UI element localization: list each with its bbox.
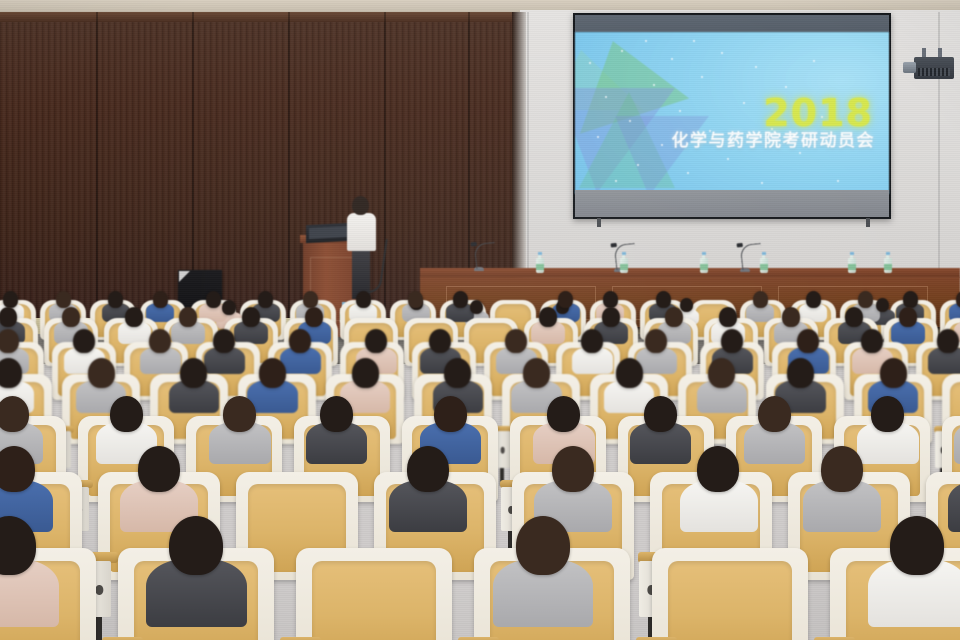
audience-head — [787, 358, 814, 388]
audience-head — [0, 329, 19, 353]
bottle-cap — [762, 252, 767, 255]
seat-back-panel — [668, 561, 793, 640]
audience-head — [434, 396, 467, 432]
screen-top-bar — [575, 15, 889, 32]
water-bottle — [536, 252, 544, 273]
audience-head — [721, 329, 743, 353]
audience-head — [505, 329, 527, 353]
bottle-label — [848, 264, 856, 270]
auditorium-seat — [296, 548, 452, 640]
auditorium-photo: 2018 化学与药学院考研动员会 — [0, 0, 960, 640]
bottle-cap — [850, 252, 855, 255]
slide-year-text: 2018 — [763, 94, 873, 132]
presenter-torso — [347, 213, 376, 251]
audience-head — [523, 358, 550, 388]
microphone-capsule — [471, 242, 477, 247]
audience-head — [719, 307, 737, 327]
bottle-label — [620, 264, 628, 270]
slide-dot — [799, 152, 801, 154]
audience-head — [903, 291, 918, 308]
slide-dot — [701, 76, 703, 78]
screen-mount-bracket — [597, 218, 601, 227]
water-bottle — [848, 252, 856, 273]
front-row-head — [470, 300, 483, 314]
water-bottle — [700, 252, 708, 273]
audience-head — [616, 358, 643, 388]
slide-dot — [679, 110, 681, 112]
screen-mount-bracket — [866, 218, 870, 227]
audience-head — [259, 358, 286, 388]
slide-dot — [761, 182, 763, 184]
slide-dot — [785, 86, 787, 88]
audience-head — [539, 307, 557, 327]
audience-head — [797, 329, 819, 353]
projector-lens — [903, 62, 916, 73]
audience-head — [516, 516, 570, 575]
audience-head — [758, 396, 791, 432]
wood-panel-seam — [96, 12, 98, 324]
audience-head — [153, 291, 168, 308]
audience-head — [429, 329, 451, 353]
audience-head — [180, 358, 207, 388]
audience-head — [62, 307, 80, 327]
audience-head — [581, 329, 603, 353]
audience-head — [782, 307, 800, 327]
auditorium-seat — [652, 548, 808, 640]
audience-head — [305, 307, 323, 327]
audience-head — [645, 329, 667, 353]
front-row-head — [876, 298, 889, 312]
audience-head — [753, 291, 768, 308]
audience-head — [656, 291, 671, 308]
presentation-slide: 2018 化学与药学院考研动员会 — [575, 32, 889, 194]
wall-seam — [527, 12, 529, 312]
screen-bottom-bar — [575, 190, 889, 217]
bottle-label — [884, 264, 892, 270]
audience-head — [845, 307, 863, 327]
audience-head — [88, 358, 115, 388]
audience-head — [179, 307, 197, 327]
slide-dot — [813, 60, 815, 62]
audience-head — [665, 307, 683, 327]
audience-head — [125, 307, 143, 327]
front-row-head — [680, 298, 693, 312]
audience-head — [3, 291, 18, 308]
audience-head — [890, 516, 944, 575]
audience-head — [821, 446, 863, 492]
bottle-cap — [538, 252, 543, 255]
wood-wall-top-trim — [0, 12, 524, 22]
audience-head — [0, 396, 29, 432]
audience-head — [408, 291, 423, 308]
audience-head — [871, 396, 904, 432]
water-bottle — [620, 252, 628, 273]
audience-head — [861, 329, 883, 353]
audience-head — [242, 307, 260, 327]
speaker-corner-sticker — [179, 271, 190, 282]
audience-head — [0, 307, 17, 327]
slide-dot — [755, 66, 757, 68]
audience-head — [56, 291, 71, 308]
slide-dot — [693, 40, 695, 42]
microphone-capsule — [737, 243, 743, 248]
audience-head — [356, 291, 371, 308]
slide-dot — [837, 180, 839, 182]
bottle-cap — [702, 252, 707, 255]
ceiling-projector — [914, 57, 954, 79]
microphone-capsule — [611, 243, 617, 248]
slide-dot — [721, 52, 723, 54]
audience-head — [108, 291, 123, 308]
audience-head — [223, 396, 256, 432]
slide-dot — [727, 158, 729, 160]
audience-head — [453, 291, 468, 308]
wood-panel-seam — [384, 12, 386, 324]
audience-head — [213, 329, 235, 353]
slide-polygon-shape — [615, 116, 709, 194]
slide-title-text: 化学与药学院考研动员会 — [672, 132, 876, 151]
audience-head — [320, 396, 353, 432]
audience-head — [407, 446, 449, 492]
bottle-label — [700, 264, 708, 270]
projection-screen: 2018 化学与药学院考研动员会 — [573, 13, 891, 219]
audience-head — [352, 358, 379, 388]
audience-head — [858, 291, 873, 308]
bottle-label — [536, 264, 544, 270]
audience-head — [880, 358, 907, 388]
audience-head — [552, 446, 594, 492]
bottle-cap — [622, 252, 627, 255]
bottle-label — [760, 264, 768, 270]
audience-head — [937, 329, 959, 353]
audience-head — [708, 358, 735, 388]
laptop — [306, 223, 350, 243]
audience-head — [547, 396, 580, 432]
audience-head — [169, 516, 223, 575]
audience-head — [73, 329, 95, 353]
audience-head — [603, 291, 618, 308]
laptop-screen — [309, 226, 347, 239]
presenter-hair — [352, 196, 369, 215]
audience-head — [697, 446, 739, 492]
audience-head — [602, 307, 620, 327]
audience-head — [806, 291, 821, 308]
projector-vents — [918, 68, 950, 76]
audience-head — [149, 329, 171, 353]
audience-head — [138, 446, 180, 492]
audience-head — [365, 329, 387, 353]
audience-head — [110, 396, 143, 432]
microphone-arm — [474, 242, 497, 269]
audience-head — [444, 358, 471, 388]
audience-head — [289, 329, 311, 353]
wood-panel-seam — [288, 12, 290, 324]
gooseneck-microphone — [474, 243, 498, 271]
audience-head — [644, 396, 677, 432]
audience-head — [206, 291, 221, 308]
audience-head — [0, 358, 22, 388]
audience-head — [899, 307, 917, 327]
audience-head — [258, 291, 273, 308]
audience-head — [558, 291, 573, 308]
slide-dot — [743, 102, 745, 104]
water-bottle — [760, 252, 768, 273]
audience-head — [0, 446, 35, 492]
audience-head — [303, 291, 318, 308]
front-row-head — [222, 300, 236, 315]
bottle-cap — [886, 252, 891, 255]
water-bottle — [884, 252, 892, 273]
seat-back-panel — [312, 561, 437, 640]
